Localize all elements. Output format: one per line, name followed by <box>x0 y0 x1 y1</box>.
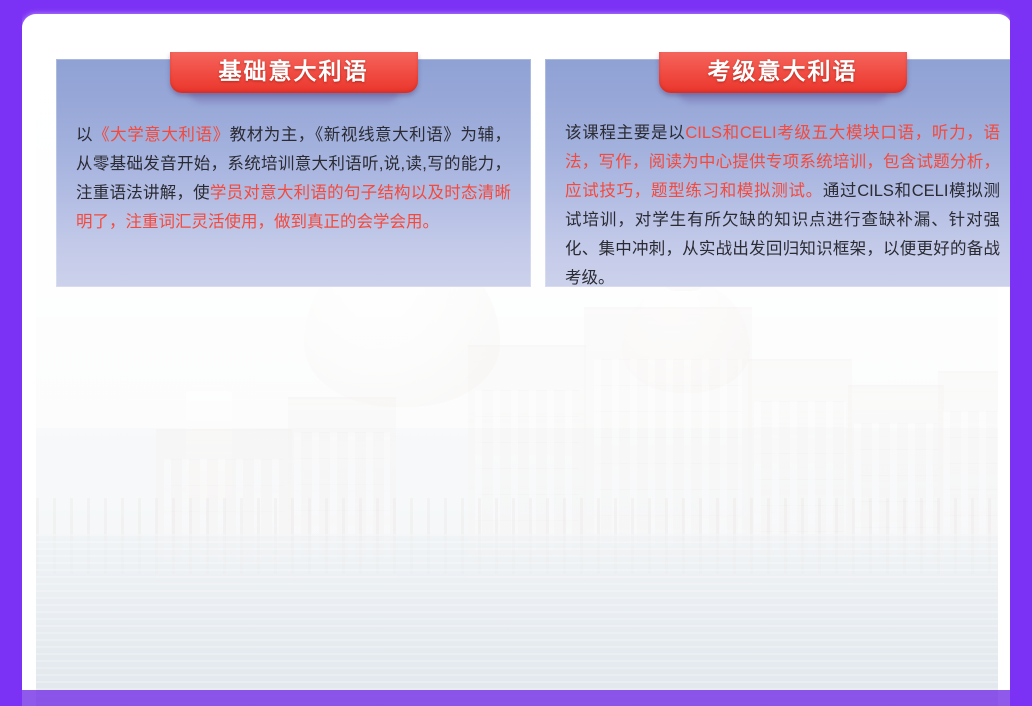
panel-paragraph-exam-italian: 该课程主要是以CILS和CELI考级五大模块口语，听力，语法，写作，阅读为中心提… <box>565 119 1000 293</box>
panel-title-basic-italian: 基础意大利语 <box>196 59 392 84</box>
bottom-purple-overlay <box>22 690 1012 706</box>
text-segment: 该课程主要是以 <box>565 124 685 142</box>
panel-body-basic-italian: 以《大学意大利语》教材为主，《新视线意大利语》为辅，从零基础发音开始，系统培训意… <box>76 121 511 237</box>
panel-basic-italian: 基础意大利语 以《大学意大利语》教材为主，《新视线意大利语》为辅，从零基础发音开… <box>56 59 531 287</box>
text-segment: 以 <box>76 126 93 144</box>
page-root: 基础意大利语 以《大学意大利语》教材为主，《新视线意大利语》为辅，从零基础发音开… <box>0 0 1032 706</box>
right-purple-edge <box>1010 0 1032 706</box>
ribbon-banner-basic-italian: 基础意大利语 <box>170 52 418 93</box>
content-card: 基础意大利语 以《大学意大利语》教材为主，《新视线意大利语》为辅，从零基础发音开… <box>22 14 1012 706</box>
panel-paragraph-basic-italian: 以《大学意大利语》教材为主，《新视线意大利语》为辅，从零基础发音开始，系统培训意… <box>76 121 511 237</box>
panel-title-exam-italian: 考级意大利语 <box>685 59 881 84</box>
panel-body-exam-italian: 该课程主要是以CILS和CELI考级五大模块口语，听力，语法，写作，阅读为中心提… <box>565 119 1000 293</box>
panel-exam-italian: 考级意大利语 该课程主要是以CILS和CELI考级五大模块口语，听力，语法，写作… <box>545 59 1012 287</box>
ribbon-banner-exam-italian: 考级意大利语 <box>659 52 907 93</box>
left-purple-edge <box>0 0 22 706</box>
course-panels: 基础意大利语 以《大学意大利语》教材为主，《新视线意大利语》为辅，从零基础发音开… <box>56 59 1012 287</box>
text-segment-highlight: 《大学意大利语》 <box>93 126 230 144</box>
